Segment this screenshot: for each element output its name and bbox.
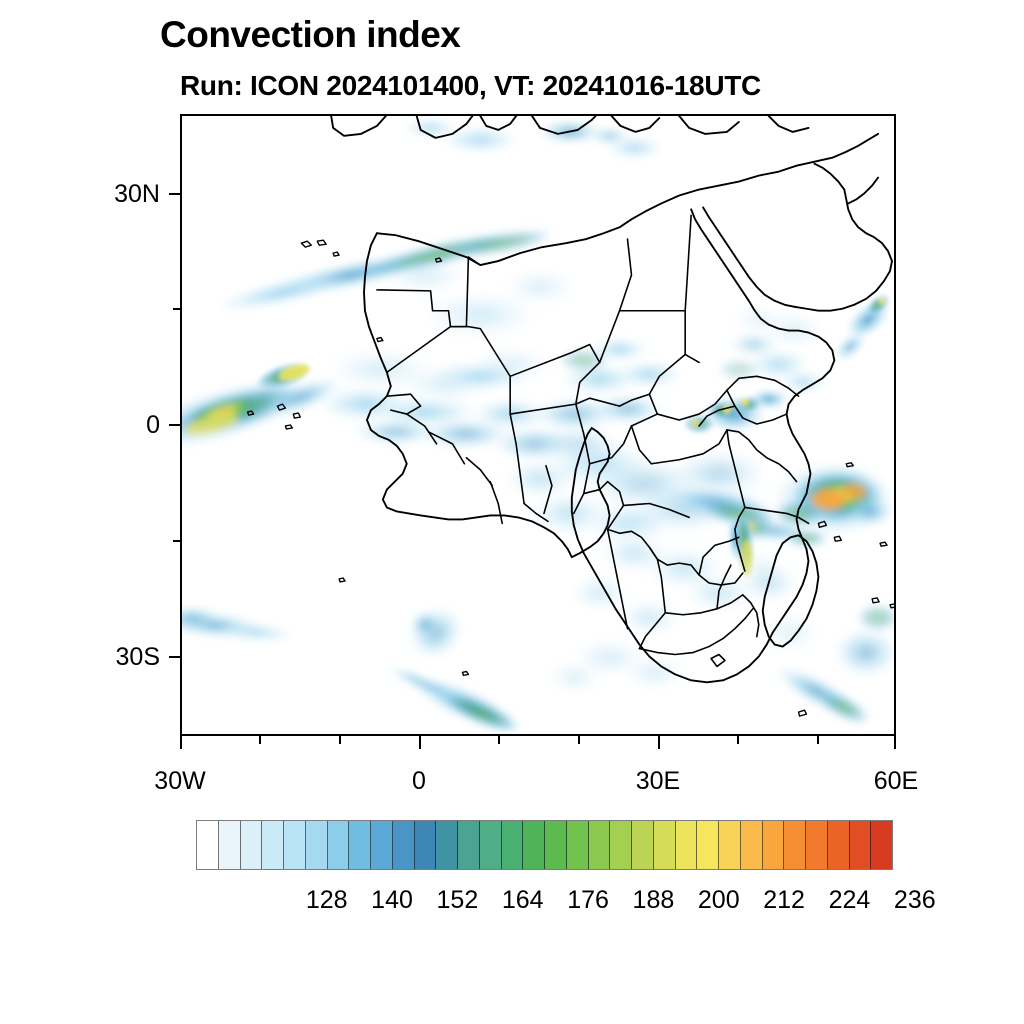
x-axis-label-60E: 60E — [836, 767, 956, 796]
page-title: Convection index — [160, 14, 460, 56]
figure-subtitle: Run: ICON 2024101400, VT: 20241016-18UTC — [180, 70, 761, 102]
x-tick-40E — [737, 736, 739, 744]
x-tick-20W — [259, 736, 261, 744]
colorbar[interactable] — [196, 820, 893, 870]
x-tick-60E — [894, 736, 896, 749]
y-tick-30N — [169, 193, 180, 195]
colorbar-cell-0 — [197, 821, 219, 869]
colorbar-cell-4 — [284, 821, 306, 869]
colorbar-cell-30 — [850, 821, 872, 869]
colorbar-cell-24 — [719, 821, 741, 869]
y-tick-15N — [173, 308, 180, 310]
y-tick-15S — [173, 540, 180, 542]
y-tick-0 — [169, 424, 180, 426]
map-plot-area[interactable] — [180, 114, 896, 736]
colorbar-cell-15 — [523, 821, 545, 869]
colorbar-cell-25 — [741, 821, 763, 869]
x-tick-30E — [658, 736, 660, 749]
colorbar-cell-27 — [784, 821, 806, 869]
map-canvas — [182, 116, 894, 734]
figure-canvas: Convection index Run: ICON 2024101400, V… — [0, 0, 1024, 1024]
colorbar-cell-7 — [349, 821, 371, 869]
x-tick-0 — [419, 736, 421, 749]
colorbar-cell-5 — [306, 821, 328, 869]
colorbar-cell-29 — [828, 821, 850, 869]
x-tick-10E — [498, 736, 500, 744]
colorbar-cell-2 — [241, 821, 263, 869]
colorbar-cell-14 — [502, 821, 524, 869]
colorbar-tick-236: 236 — [875, 886, 955, 915]
colorbar-cell-6 — [328, 821, 350, 869]
colorbar-cell-10 — [415, 821, 437, 869]
colorbar-cell-26 — [763, 821, 785, 869]
colorbar-cell-20 — [632, 821, 654, 869]
y-axis-label-30N: 30N — [60, 180, 160, 209]
y-tick-30S — [169, 656, 180, 658]
colorbar-cell-12 — [458, 821, 480, 869]
y-axis-label-30S: 30S — [60, 643, 160, 672]
colorbar-cell-22 — [676, 821, 698, 869]
x-tick-20E — [578, 736, 580, 744]
x-tick-10W — [339, 736, 341, 744]
colorbar-cell-17 — [567, 821, 589, 869]
colorbar-cell-31 — [871, 821, 892, 869]
y-axis-label-0: 0 — [60, 411, 160, 440]
x-tick-30W — [180, 736, 182, 749]
colorbar-cell-11 — [436, 821, 458, 869]
colorbar-cell-1 — [219, 821, 241, 869]
colorbar-cell-18 — [589, 821, 611, 869]
colorbar-cell-3 — [262, 821, 284, 869]
x-axis-label-30E: 30E — [598, 767, 718, 796]
colorbar-cell-21 — [654, 821, 676, 869]
colorbar-cell-9 — [393, 821, 415, 869]
colorbar-cell-13 — [480, 821, 502, 869]
colorbar-cell-19 — [610, 821, 632, 869]
colorbar-cell-16 — [545, 821, 567, 869]
colorbar-cell-28 — [806, 821, 828, 869]
x-axis-label-30W: 30W — [120, 767, 240, 796]
x-axis-label-0: 0 — [359, 767, 479, 796]
x-tick-50E — [817, 736, 819, 744]
colorbar-cell-8 — [371, 821, 393, 869]
colorbar-cell-23 — [697, 821, 719, 869]
